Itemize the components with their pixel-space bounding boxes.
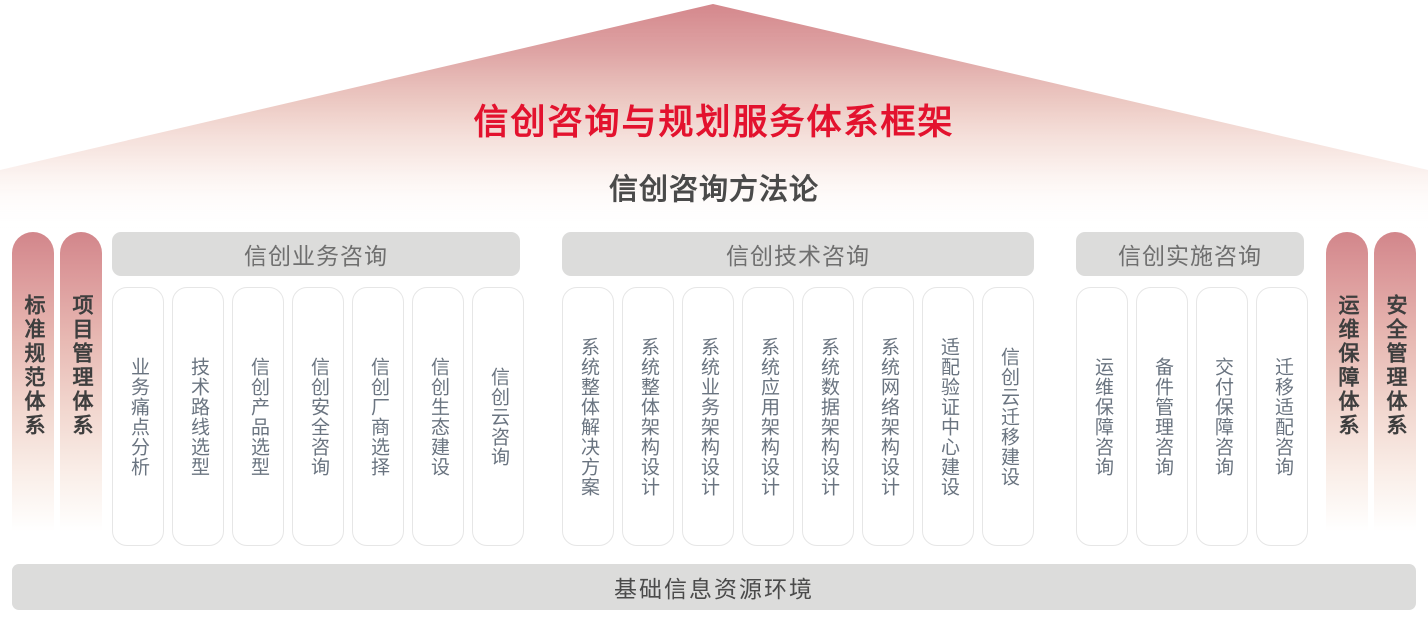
card-label: 适配验证中心建设: [933, 337, 963, 497]
pillar-project-management[interactable]: 项目管理体系: [60, 232, 102, 544]
card-item[interactable]: 信创安全咨询: [292, 287, 344, 546]
base-bar[interactable]: 基础信息资源环境: [12, 564, 1416, 610]
card-label: 系统数据架构设计: [813, 337, 843, 497]
page-subtitle: 信创咨询方法论: [0, 166, 1428, 208]
pillar-security-management[interactable]: 安全管理体系: [1374, 232, 1416, 544]
card-item[interactable]: 系统业务架构设计: [682, 287, 734, 546]
group-implementation-consulting: 信创实施咨询 运维保障咨询 备件管理咨询 交付保障咨询 迁移适配咨询: [1076, 232, 1304, 276]
page-title: 信创咨询与规划服务体系框架: [0, 94, 1428, 145]
card-item[interactable]: 业务痛点分析: [112, 287, 164, 546]
card-label: 业务痛点分析: [123, 357, 153, 477]
card-item[interactable]: 运维保障咨询: [1076, 287, 1128, 546]
pillar-label: 项目管理体系: [60, 294, 102, 438]
pillar-label: 标准规范体系: [12, 294, 54, 438]
card-label: 运维保障咨询: [1087, 357, 1117, 477]
group-business-consulting: 信创业务咨询 业务痛点分析 技术路线选型 信创产品选型 信创安全咨询 信创厂商选…: [112, 232, 520, 276]
group-technology-consulting: 信创技术咨询 系统整体解决方案 系统整体架构设计 系统业务架构设计 系统应用架构…: [562, 232, 1034, 276]
card-label: 系统整体架构设计: [633, 337, 663, 497]
card-item[interactable]: 技术路线选型: [172, 287, 224, 546]
card-list-implementation: 运维保障咨询 备件管理咨询 交付保障咨询 迁移适配咨询: [1076, 287, 1308, 546]
card-item[interactable]: 系统整体架构设计: [622, 287, 674, 546]
card-item[interactable]: 信创产品选型: [232, 287, 284, 546]
diagram-canvas: 信创咨询与规划服务体系框架 信创咨询方法论 标准规范体系 项目管理体系 运维保障…: [0, 0, 1428, 627]
card-list-technology: 系统整体解决方案 系统整体架构设计 系统业务架构设计 系统应用架构设计 系统数据…: [562, 287, 1034, 546]
card-item[interactable]: 迁移适配咨询: [1256, 287, 1308, 546]
pillar-ops-assurance[interactable]: 运维保障体系: [1326, 232, 1368, 544]
card-label: 信创安全咨询: [303, 357, 333, 477]
card-label: 系统应用架构设计: [753, 337, 783, 497]
group-header-business[interactable]: 信创业务咨询: [112, 232, 520, 276]
card-label: 信创厂商选择: [363, 357, 393, 477]
card-item[interactable]: 系统数据架构设计: [802, 287, 854, 546]
card-item[interactable]: 系统应用架构设计: [742, 287, 794, 546]
card-label: 信创云咨询: [483, 367, 513, 467]
card-label: 信创产品选型: [243, 357, 273, 477]
card-label: 系统业务架构设计: [693, 337, 723, 497]
card-label: 备件管理咨询: [1147, 357, 1177, 477]
card-item[interactable]: 信创生态建设: [412, 287, 464, 546]
card-list-business: 业务痛点分析 技术路线选型 信创产品选型 信创安全咨询 信创厂商选择 信创生态建…: [112, 287, 524, 546]
card-item[interactable]: 信创云咨询: [472, 287, 524, 546]
card-label: 系统整体解决方案: [573, 337, 603, 497]
card-item[interactable]: 信创厂商选择: [352, 287, 404, 546]
card-label: 技术路线选型: [183, 357, 213, 477]
pillar-standard-spec[interactable]: 标准规范体系: [12, 232, 54, 544]
card-label: 交付保障咨询: [1207, 357, 1237, 477]
pillar-label: 安全管理体系: [1374, 294, 1416, 438]
group-header-technology[interactable]: 信创技术咨询: [562, 232, 1034, 276]
card-label: 信创云迁移建设: [993, 347, 1023, 487]
card-item[interactable]: 信创云迁移建设: [982, 287, 1034, 546]
card-label: 系统网络架构设计: [873, 337, 903, 497]
card-item[interactable]: 适配验证中心建设: [922, 287, 974, 546]
pillar-label: 运维保障体系: [1326, 294, 1368, 438]
card-label: 迁移适配咨询: [1267, 357, 1297, 477]
card-item[interactable]: 系统整体解决方案: [562, 287, 614, 546]
card-item[interactable]: 系统网络架构设计: [862, 287, 914, 546]
card-item[interactable]: 备件管理咨询: [1136, 287, 1188, 546]
group-header-implementation[interactable]: 信创实施咨询: [1076, 232, 1304, 276]
card-label: 信创生态建设: [423, 357, 453, 477]
card-item[interactable]: 交付保障咨询: [1196, 287, 1248, 546]
